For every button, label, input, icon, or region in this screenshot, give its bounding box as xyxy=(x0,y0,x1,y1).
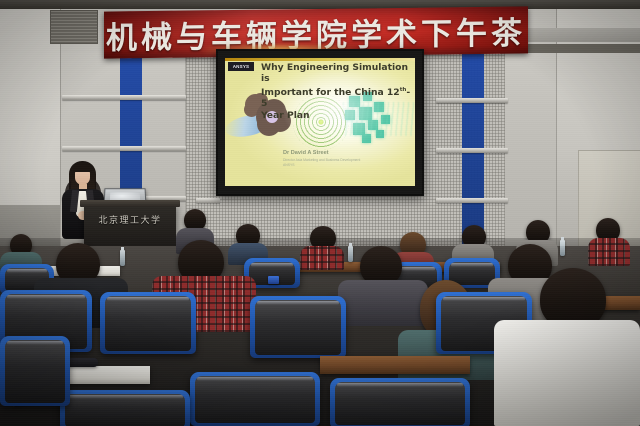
water-bottle xyxy=(120,250,125,266)
chair xyxy=(190,372,320,426)
slide-title-line2-pre: Important for the China 12 xyxy=(261,87,400,98)
slide-author-name: Dr David A Street xyxy=(283,150,411,158)
slide-author-block: Dr David A Street Director Asia Marketin… xyxy=(283,150,411,168)
audience-torso xyxy=(588,238,630,266)
desk-row-front xyxy=(320,356,470,374)
ceiling-strip-dark xyxy=(516,44,640,53)
wall-rail xyxy=(436,198,508,203)
chair xyxy=(330,378,470,426)
audience-torso xyxy=(300,246,344,270)
ceiling-beam xyxy=(0,0,640,9)
ansys-logo: ANSYS xyxy=(228,62,254,71)
wall-rail xyxy=(196,198,220,203)
slide-title-line1: Why Engineering Simulation is xyxy=(261,62,408,84)
mobile-phone xyxy=(268,276,279,284)
presenter-fringe xyxy=(73,164,92,172)
chair xyxy=(250,296,346,358)
audience-torso xyxy=(338,280,428,326)
podium-sign-text: 北京理工大学 xyxy=(84,213,176,226)
slide-author-company: ANSYS xyxy=(283,163,411,168)
wall-rail xyxy=(62,95,186,100)
podium-top-edge xyxy=(80,200,180,207)
wall-rail xyxy=(436,148,508,153)
wall-rail xyxy=(436,98,508,103)
water-bottle xyxy=(560,240,565,256)
presentation-slide: ANSYS Why Engineering Simulation is Impo… xyxy=(225,58,415,186)
slide-title-line3: Year Plan xyxy=(261,110,310,121)
chair xyxy=(100,292,196,354)
ansys-logo-text: ANSYS xyxy=(233,64,250,69)
water-bottle xyxy=(348,246,353,262)
chair xyxy=(60,390,190,426)
wall-rail xyxy=(62,146,186,151)
projection-screen: ANSYS Why Engineering Simulation is Impo… xyxy=(216,49,424,196)
audience-torso xyxy=(494,320,640,426)
slide-title: Why Engineering Simulation is Important … xyxy=(261,62,411,121)
lecture-hall-photo: 机械与车辆学院学术下午茶 xyxy=(0,0,640,426)
wall-panel-right xyxy=(505,52,557,250)
air-vent-icon xyxy=(50,10,98,44)
chair xyxy=(0,336,70,406)
